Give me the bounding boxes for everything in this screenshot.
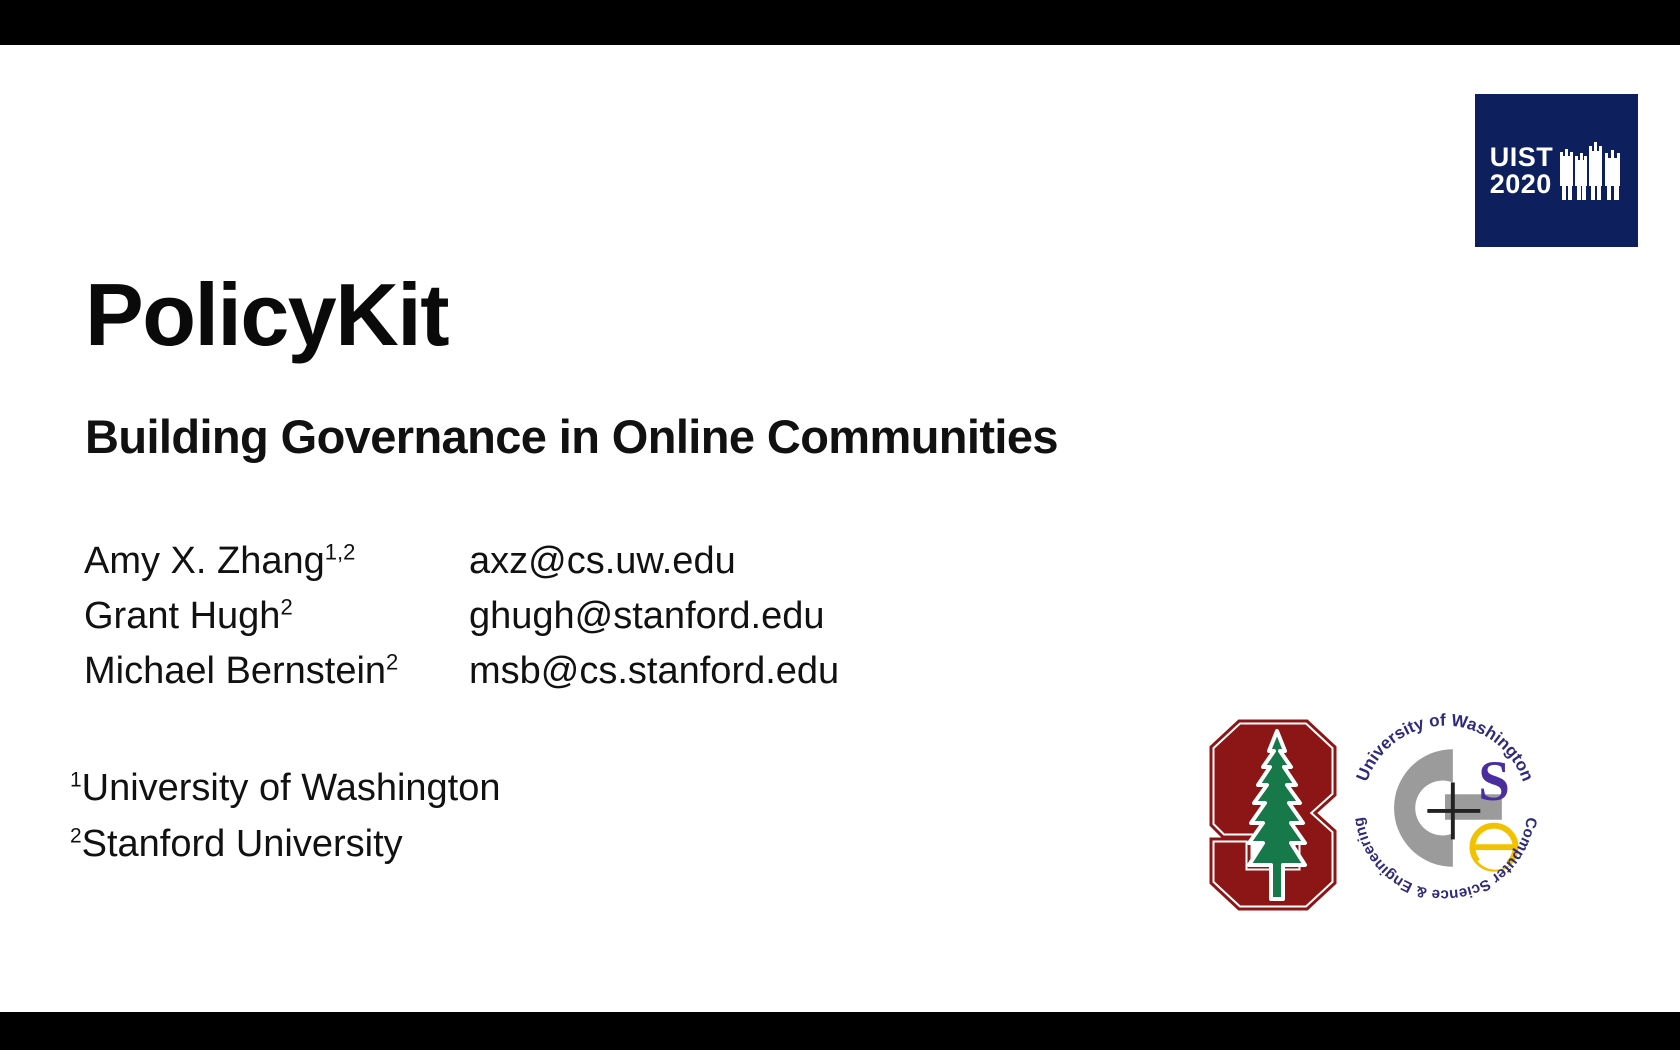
author-name-text: Michael Bernstein [84,650,386,692]
uist-logo-contents: UIST 2020 [1475,94,1638,247]
author-name-text: Amy X. Zhang [84,540,325,582]
author-email: msb@cs.stanford.edu [469,650,839,693]
author-row: Grant Hugh2 ghugh@stanford.edu [84,595,839,650]
letterbox-top-bar [0,0,1680,45]
author-email: ghugh@stanford.edu [469,595,825,638]
author-affiliation-mark: 2 [280,594,292,619]
author-email: axz@cs.uw.edu [469,540,736,583]
affiliation-name: Stanford University [82,823,403,865]
uist-logo-line2: 2020 [1490,171,1554,198]
author-affiliation-mark: 2 [386,649,398,674]
affiliation-name: University of Washington [82,767,501,809]
uw-cse-letter-s: S [1478,750,1510,813]
author-row: Amy X. Zhang1,2 axz@cs.uw.edu [84,540,839,595]
affiliation-row: 2Stanford University [70,816,501,872]
affiliation-mark: 2 [70,824,82,847]
uw-cse-logo: S University of Washington Computer Scie… [1347,710,1543,906]
author-row: Michael Bernstein2 msb@cs.stanford.edu [84,650,839,705]
author-list: Amy X. Zhang1,2 axz@cs.uw.edu Grant Hugh… [84,540,839,705]
uist-logo-line1: UIST [1490,144,1554,171]
slide-subtitle: Building Governance in Online Communitie… [85,413,1058,460]
author-affiliation-mark: 1,2 [325,539,356,564]
affiliation-list: 1University of Washington 2Stanford Univ… [70,760,501,872]
author-name: Grant Hugh2 [84,595,469,638]
presentation-viewport: UIST 2020 [0,0,1680,1050]
stanford-logo [1203,717,1343,913]
uist-logo-wordmark: UIST 2020 [1490,144,1554,198]
plus-icon [1427,783,1480,840]
slide-title: PolicyKit [85,271,448,359]
author-name-text: Grant Hugh [84,595,280,637]
author-name: Michael Bernstein2 [84,650,469,693]
affiliation-row: 1University of Washington [70,760,501,816]
skyline-icon [1559,140,1623,202]
uist-conference-logo: UIST 2020 [1475,94,1638,247]
affiliation-mark: 1 [70,768,82,791]
slide-canvas: UIST 2020 [0,45,1680,1012]
author-name: Amy X. Zhang1,2 [84,540,469,583]
letterbox-bottom-bar [0,1012,1680,1050]
